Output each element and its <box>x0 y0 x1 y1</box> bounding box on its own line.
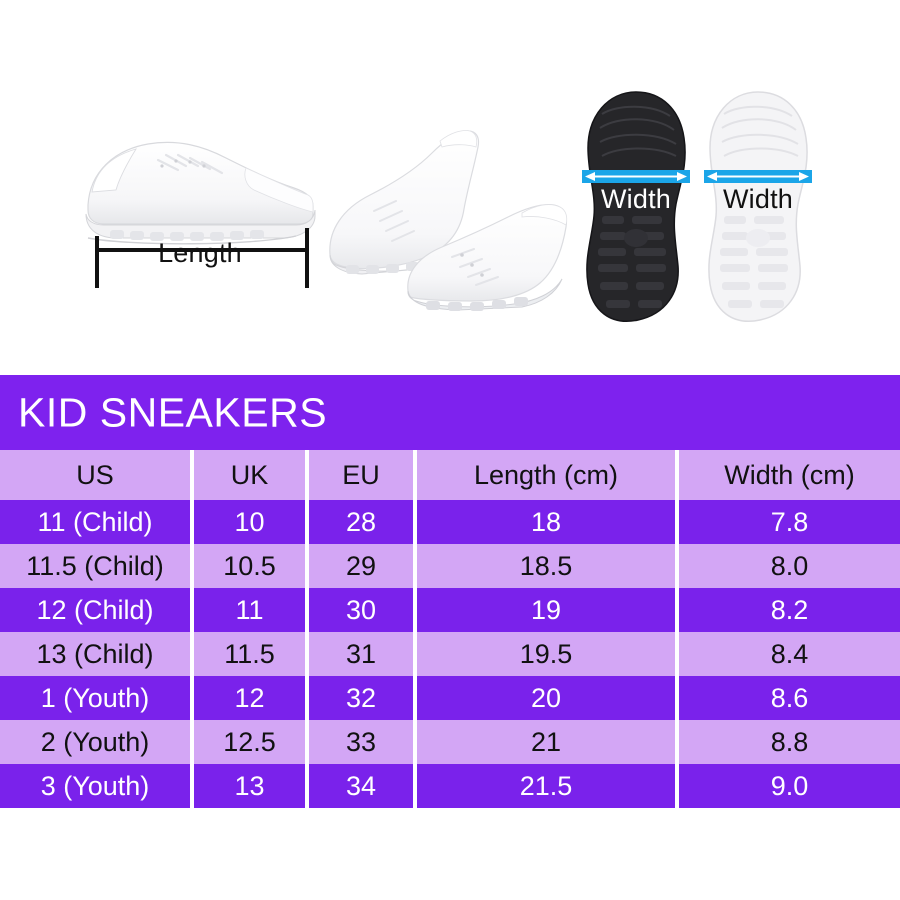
width-arrow-dark <box>582 170 690 183</box>
light-sole-figure: Width <box>702 88 814 333</box>
cell-eu: 31 <box>307 632 415 676</box>
cell-us: 3 (Youth) <box>0 764 192 808</box>
cell-width: 9.0 <box>677 764 900 808</box>
table-row: 1 (Youth)1232208.6 <box>0 676 900 720</box>
cell-uk: 10 <box>192 500 307 544</box>
dark-sole-figure: Width <box>580 88 692 333</box>
table-header-row: US UK EU Length (cm) Width (cm) <box>0 450 900 500</box>
size-chart-table: US UK EU Length (cm) Width (cm) 11 (Chil… <box>0 450 900 808</box>
table-row: 11 (Child)1028187.8 <box>0 500 900 544</box>
cell-width: 8.2 <box>677 588 900 632</box>
cell-eu: 33 <box>307 720 415 764</box>
cell-uk: 13 <box>192 764 307 808</box>
illustration-band: Length <box>0 0 900 375</box>
cell-us: 2 (Youth) <box>0 720 192 764</box>
column-header-eu: EU <box>307 450 415 500</box>
cell-length: 18.5 <box>415 544 677 588</box>
table-row: 2 (Youth)12.533218.8 <box>0 720 900 764</box>
table-row: 3 (Youth)133421.59.0 <box>0 764 900 808</box>
cell-eu: 30 <box>307 588 415 632</box>
column-header-width: Width (cm) <box>677 450 900 500</box>
cell-uk: 12.5 <box>192 720 307 764</box>
table-row: 11.5 (Child)10.52918.58.0 <box>0 544 900 588</box>
cell-eu: 28 <box>307 500 415 544</box>
cell-eu: 32 <box>307 676 415 720</box>
cell-us: 11.5 (Child) <box>0 544 192 588</box>
cell-length: 19 <box>415 588 677 632</box>
width-measure-label-dark: Width <box>580 184 692 214</box>
cell-eu: 29 <box>307 544 415 588</box>
cell-uk: 10.5 <box>192 544 307 588</box>
cell-length: 19.5 <box>415 632 677 676</box>
cell-us: 13 (Child) <box>0 632 192 676</box>
cell-width: 8.6 <box>677 676 900 720</box>
cell-us: 1 (Youth) <box>0 676 192 720</box>
sneaker-pair-figure <box>322 105 577 320</box>
table-row: 13 (Child)11.53119.58.4 <box>0 632 900 676</box>
cell-width: 8.0 <box>677 544 900 588</box>
cell-uk: 11 <box>192 588 307 632</box>
cell-length: 18 <box>415 500 677 544</box>
width-arrow-light <box>704 170 812 183</box>
title-bar: KID SNEAKERS <box>0 375 900 450</box>
width-measure-label-light: Width <box>702 184 814 214</box>
cell-length: 20 <box>415 676 677 720</box>
sneaker-pair-three-quarter-icon <box>322 105 577 320</box>
sneaker-side-profile-icon <box>70 110 330 300</box>
sole-width-figures: Width <box>580 88 820 333</box>
cell-width: 8.4 <box>677 632 900 676</box>
cell-length: 21.5 <box>415 764 677 808</box>
table-row: 12 (Child)1130198.2 <box>0 588 900 632</box>
cell-us: 12 (Child) <box>0 588 192 632</box>
cell-eu: 34 <box>307 764 415 808</box>
cell-width: 8.8 <box>677 720 900 764</box>
cell-us: 11 (Child) <box>0 500 192 544</box>
column-header-us: US <box>0 450 192 500</box>
cell-uk: 11.5 <box>192 632 307 676</box>
length-measure-label: Length <box>70 238 330 269</box>
page-title: KID SNEAKERS <box>18 389 327 436</box>
length-measurement-figure: Length <box>70 110 330 300</box>
cell-uk: 12 <box>192 676 307 720</box>
column-header-length: Length (cm) <box>415 450 677 500</box>
column-header-uk: UK <box>192 450 307 500</box>
cell-width: 7.8 <box>677 500 900 544</box>
cell-length: 21 <box>415 720 677 764</box>
